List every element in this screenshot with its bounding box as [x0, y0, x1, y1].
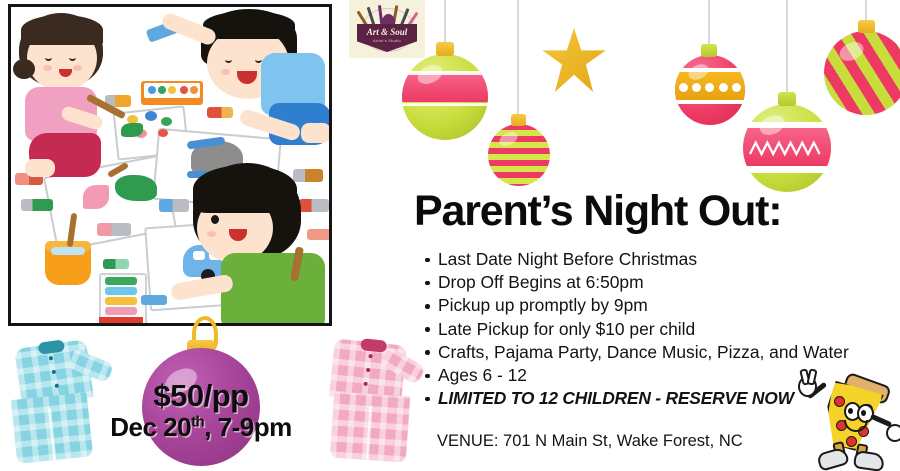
flyer-canvas: Art & Soul Artist's Studio [0, 0, 900, 471]
price-label: $50/pp [142, 378, 260, 414]
list-item: Crafts, Pajama Party, Dance Music, Pizza… [438, 341, 849, 364]
pajamas-blue-plaid [4, 338, 116, 466]
flower-painting [83, 185, 109, 209]
venue-address: VENUE: 701 N Main St, Wake Forest, NC [437, 432, 743, 451]
list-item: Last Date Night Before Christmas [438, 248, 849, 271]
ornament-pink-green-spiral [820, 0, 900, 152]
paint-blob [148, 86, 156, 94]
bucket-water [51, 247, 85, 255]
list-item: Pickup up promptly by 9pm [438, 294, 849, 317]
paint-blob [161, 117, 172, 126]
list-item: Ages 6 - 12 [438, 364, 849, 387]
paint-blob [145, 111, 157, 121]
list-item: Drop Off Begins at 6:50pm [438, 271, 849, 294]
pizza-slice-mascot [800, 374, 896, 468]
mascot-pupil [861, 410, 866, 416]
list-item: Late Pickup for only $10 per child [438, 318, 849, 341]
green-paint-stroke [115, 175, 157, 201]
paint-tube [105, 297, 137, 305]
paint-blob [180, 86, 188, 94]
date-rest: , 7-9pm [204, 412, 292, 442]
paint-blob [158, 86, 166, 94]
mascot-shoe [853, 450, 885, 471]
paint-tube [97, 223, 131, 236]
paint-blob [158, 129, 168, 137]
paint-rack-base [99, 317, 143, 326]
mascot-pupil [848, 408, 853, 414]
paint-tube [299, 199, 329, 212]
paint-tube [307, 229, 332, 240]
paint-tube [293, 169, 323, 182]
hair-tie [13, 59, 35, 79]
pepperoni [846, 436, 857, 447]
ornament-striped-small [480, 0, 556, 200]
paint-tube [141, 295, 167, 305]
brush-paint [121, 123, 143, 137]
details-list: Last Date Night Before Christmas Drop Of… [420, 248, 849, 410]
paint-blob [168, 86, 176, 94]
mascot-hand [886, 424, 900, 442]
children-painting-photo [8, 4, 332, 326]
paint-blob [190, 86, 198, 94]
paint-tube [105, 277, 137, 285]
eye [211, 215, 219, 224]
date-time-label: Dec 20th, 7-9pm [87, 412, 315, 443]
price-ornament-badge: $50/pp Dec 20th, 7-9pm [142, 318, 260, 468]
pajamas-pink-plaid [318, 336, 430, 466]
paint-tube [159, 199, 189, 212]
date-prefix: Dec 20 [110, 412, 191, 442]
pepperoni [834, 396, 845, 407]
zigzag-pattern [748, 139, 825, 159]
car-window [193, 251, 205, 260]
paint-tube [105, 287, 137, 295]
paint-tube [21, 199, 53, 211]
page-title: Parent’s Night Out: [414, 190, 781, 233]
date-suffix: th [191, 413, 204, 430]
list-item-highlight: LIMITED TO 12 CHILDREN - RESERVE NOW [438, 387, 849, 410]
paint-tube [105, 307, 137, 315]
paint-tube [207, 107, 233, 118]
paint-tube [103, 259, 129, 269]
